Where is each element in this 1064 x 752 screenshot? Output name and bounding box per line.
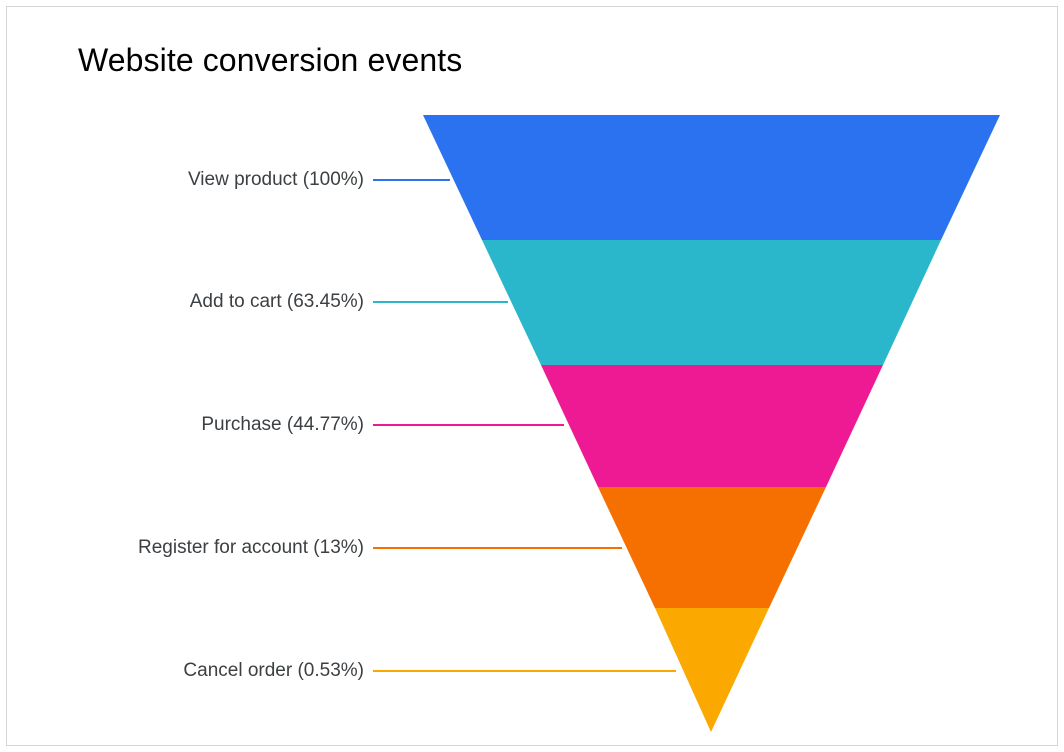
funnel-band-view-product[interactable] [423,115,1000,240]
funnel-band-add-to-cart[interactable] [482,240,941,365]
funnel-band-register-for-account[interactable] [598,487,826,608]
funnel-band-purchase[interactable] [541,365,883,487]
funnel-label-purchase: Purchase (44.77%) [201,414,364,436]
funnel-graphic [0,0,1064,752]
funnel-label-add-to-cart: Add to cart (63.45%) [190,291,364,313]
funnel-label-view-product: View product (100%) [188,169,364,191]
funnel-label-cancel-order: Cancel order (0.53%) [183,660,364,682]
funnel-chart-container: Website conversion events View product (… [0,0,1064,752]
funnel-label-register-for-account: Register for account (13%) [138,537,364,559]
